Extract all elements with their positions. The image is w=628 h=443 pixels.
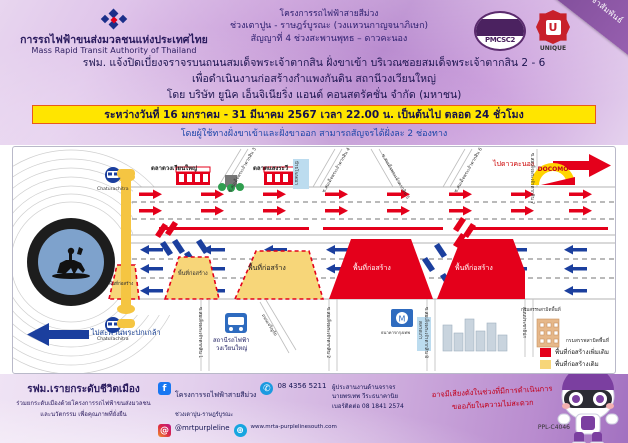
zone-yellow-label-3: พื้นที่ก่อสร้าง xyxy=(248,263,286,274)
lane-note: โดยผู้ใช้ทางฝั่งขาเข้าและฝั่งขาออก สามาร… xyxy=(0,126,628,140)
legend-label-yellow: พื้นที่ก่อสร้างเดิม xyxy=(555,359,599,369)
mascot-robot-icon xyxy=(552,374,624,443)
bank-label: ธนาคารกรุงเทพ xyxy=(381,329,410,336)
direction-left-label: ไปสะพานพระปกเกล้า xyxy=(91,327,161,339)
bts-station-icon xyxy=(225,313,247,333)
headline-line-3: โดย บริษัท ยูนิค เอ็นจิเนียริ่ง แอนด์ คอ… xyxy=(0,88,628,104)
zone-red-label-2: พื้นที่ก่อสร้าง xyxy=(455,263,493,274)
poster-footer: รฟม.เรายกระดับชีวิตเมือง ร่วมยกระดับเมือ… xyxy=(0,374,628,443)
market-label-2: ตลาดแสงระวี xyxy=(253,163,288,173)
skyline-buildings xyxy=(443,319,507,351)
station-label-line2: วงเวียนใหญ่ xyxy=(216,343,247,353)
coordinator-title: ผู้ประสานงานด้านจราจร xyxy=(332,383,404,392)
cjv-logo-label: PMCSC2 xyxy=(485,36,515,44)
soi-label-2: ซ.สมเด็จพระเจ้าตากสิน 2 xyxy=(324,307,331,358)
map-legend: กรมสรรพสามิตพื้นที่ พื้นที่ก่อสร้างเพิ่ม… xyxy=(540,337,609,369)
line-at-icon[interactable]: @ xyxy=(158,424,171,437)
cjv-logo-icon: PMCSC2 xyxy=(474,11,526,51)
zone-yellow-label-1: พื้นที่ก่อสร้าง xyxy=(109,280,133,287)
market-old-label: ตลาดเก่า xyxy=(416,321,423,339)
phone-icon[interactable]: ✆ xyxy=(260,382,273,395)
bank-icon: M xyxy=(391,309,413,327)
legend-swatch-red xyxy=(540,348,551,357)
mrta-logo-icon xyxy=(94,8,134,32)
headline-line-2: เพื่อดำเนินงานก่อสร้างกำแพงกันดิน สถานีว… xyxy=(0,72,628,88)
coordinator-phone: เบอร์ติดต่อ 08 1841 2574 xyxy=(332,402,404,411)
unique-logo-label: UNIQUE xyxy=(536,45,570,52)
coordinator-name: นายพรเทพ วีระธนาคานิย xyxy=(332,392,404,401)
slogan-sub-2: และนวัตกรรม เพื่อคุณภาพที่ยั่งยืน xyxy=(16,410,151,419)
barrier-strip xyxy=(121,177,131,309)
line-id: @mrtpurpleline xyxy=(175,424,230,433)
date-time-banner: ระหว่างวันที่ 16 มกราคม - 31 มีนาคม 2567… xyxy=(32,105,596,124)
project-section: ช่วงเตาปูน - ราษฎร์บูรณะ (วงแหวนกาญจนาภิ… xyxy=(214,20,444,33)
billboard-label: ป้ายโฆษณา xyxy=(292,161,299,185)
unique-logo-icon: U UNIQUE xyxy=(536,10,570,52)
facebook-name: โครงการรถไฟฟ้าสายสีม่วง xyxy=(175,391,256,399)
poster-root: ประชาสัมพันธ์ การรถไฟฟ้าขนส่งมวลชนแห่งปร… xyxy=(0,0,628,443)
mrta-slogan: รฟม.เรายกระดับชีวิตเมือง ร่วมยกระดับเมือ… xyxy=(16,382,151,419)
zone-yellow-label-2: พื้นที่ก่อสร้าง xyxy=(178,270,208,278)
announcement-headline: รฟม. แจ้งปิดเบี่ยงจราจรบนถนนสมเด็จพระเจ้… xyxy=(0,56,628,103)
facebook-sub: ช่วงเตาปูน-ราษฎร์บูรณะ xyxy=(175,412,233,418)
facebook-contact-row[interactable]: f โครงการรถไฟฟ้าสายสีม่วง ช่วงเตาปูน-ราษ… xyxy=(158,382,337,420)
direction-arrow-left xyxy=(27,323,89,346)
road-label-1: ถนนประชาธิปก xyxy=(520,307,527,338)
legend-row-yellow: พื้นที่ก่อสร้างเดิม xyxy=(540,359,609,369)
noise-warning: อาจมีเสียงดังในช่วงที่มีการดำเนินการ ขออ… xyxy=(431,383,553,415)
soi-label-7: ซ.สมเด็จพระเจ้าตากสิน 7 xyxy=(528,153,535,204)
headline-line-1: รฟม. แจ้งปิดเบี่ยงจราจรบนถนนสมเด็จพระเจ้… xyxy=(0,56,628,72)
legend-row-red: พื้นที่ก่อสร้างเพิ่มเติม xyxy=(540,347,609,357)
bus-stop-label-1: Chaturachitra xyxy=(97,187,129,192)
slogan-sub-1: ร่วมยกระดับเมืองด้วยโครงการรถไฟฟ้าขนส่งม… xyxy=(16,399,151,408)
poster-header: ประชาสัมพันธ์ การรถไฟฟ้าขนส่งมวลชนแห่งปร… xyxy=(0,0,628,145)
partner-logos: PMCSC2 U UNIQUE xyxy=(474,10,570,52)
project-info-block: โครงการรถไฟฟ้าสายสีม่วง ช่วงเตาปูน - ราษ… xyxy=(214,8,444,46)
legend-swatch-yellow xyxy=(540,360,551,369)
soi-label-1: ซ.สมเด็จพระเจ้าตากสิน 1 xyxy=(196,307,203,358)
phone-number: 08 4356 5211 xyxy=(277,382,326,390)
date-time-banner-label: ระหว่างวันที่ 16 มกราคม - 31 มีนาคม 2567… xyxy=(104,106,523,123)
facebook-icon[interactable]: f xyxy=(158,382,171,395)
project-title: โครงการรถไฟฟ้าสายสีม่วง xyxy=(214,8,444,20)
svg-text:M: M xyxy=(399,315,406,324)
svg-text:DOCOMO: DOCOMO xyxy=(538,166,569,173)
soi-label-8: ซ.สมเด็จพระเจ้าตากสิน 8 xyxy=(422,307,429,358)
zone-red-label-1: พื้นที่ก่อสร้าง xyxy=(353,263,391,274)
mrta-name-en: Mass Rapid Transit Authority of Thailand xyxy=(8,46,220,55)
globe-icon[interactable]: ⊕ xyxy=(234,424,247,437)
legend-label-red: พื้นที่ก่อสร้างเพิ่มเติม xyxy=(555,347,609,357)
project-contract: สัญญาที่ 4 ช่วงสะพานพุทธ – ดาวคะนอง xyxy=(214,33,444,46)
legend-caption: กรมสรรพสามิตพื้นที่ xyxy=(540,337,609,345)
line-contact-row[interactable]: @ @mrtpurpleline ⊕ www.mrta-purplelineso… xyxy=(158,424,337,437)
traffic-diagram: M xyxy=(12,146,616,374)
mrta-name-th: การรถไฟฟ้าขนส่งมวลชนแห่งประเทศไทย xyxy=(8,34,220,46)
coordinator-block: ผู้ประสานงานด้านจราจร นายพรเทพ วีระธนาคา… xyxy=(332,383,404,411)
mrta-logo-block: การรถไฟฟ้าขนส่งมวลชนแห่งประเทศไทย Mass R… xyxy=(8,8,220,55)
market-label-1: ตลาดวงเวียนใหญ่ xyxy=(151,163,197,173)
slogan-main: รฟม.เรายกระดับชีวิตเมือง xyxy=(16,382,151,397)
unique-logo-letter: U xyxy=(546,20,561,35)
contact-block: f โครงการรถไฟฟ้าสายสีม่วง ช่วงเตาปูน-ราษ… xyxy=(158,382,337,441)
website-url: www.mrta-purplelinesouth.com xyxy=(251,424,337,430)
